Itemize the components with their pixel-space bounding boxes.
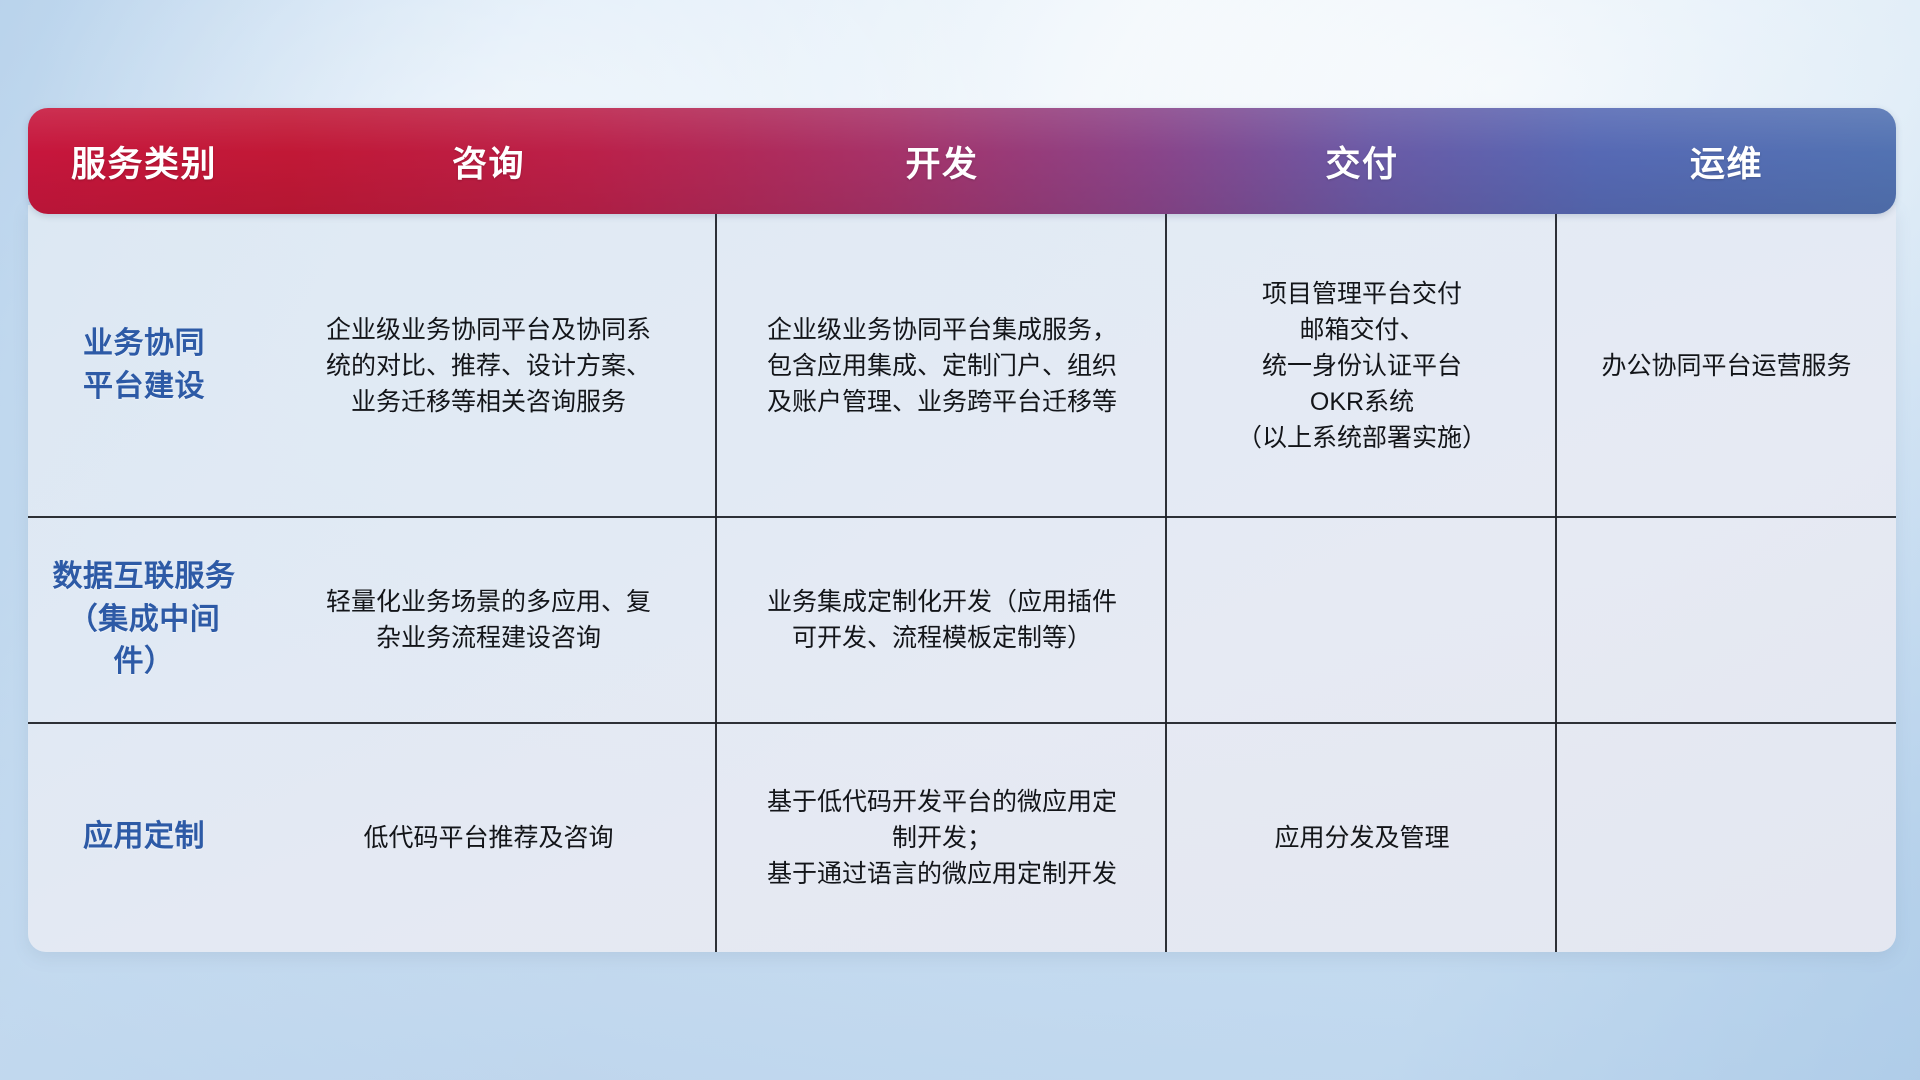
header-cell-development: 开发 xyxy=(717,136,1167,187)
column-divider xyxy=(715,214,717,952)
row-header-label: 业务协同 平台建设 xyxy=(28,214,260,517)
cell-delivery: 项目管理平台交付 邮箱交付、 统一身份认证平台 OKR系统 （以上系统部署实施） xyxy=(1167,214,1557,517)
table-row: 业务协同 平台建设 企业级业务协同平台及协同系 统的对比、推荐、设计方案、 业务… xyxy=(28,214,1896,517)
row-header-label: 数据互联服务 （集成中间件） xyxy=(28,517,260,723)
table-header-bar: 服务类别 咨询 开发 交付 运维 xyxy=(28,108,1896,214)
row-divider xyxy=(28,516,1896,518)
column-divider xyxy=(1555,214,1557,952)
header-cell-delivery: 交付 xyxy=(1167,136,1557,187)
column-divider xyxy=(1165,214,1167,952)
cell-consulting: 企业级业务协同平台及协同系 统的对比、推荐、设计方案、 业务迁移等相关咨询服务 xyxy=(260,214,717,517)
cell-delivery xyxy=(1167,517,1557,723)
service-matrix-table: 业务协同 平台建设 企业级业务协同平台及协同系 统的对比、推荐、设计方案、 业务… xyxy=(28,108,1896,952)
cell-delivery: 应用分发及管理 xyxy=(1167,723,1557,952)
cell-development: 企业级业务协同平台集成服务， 包含应用集成、定制门户、组织 及账户管理、业务跨平… xyxy=(717,214,1167,517)
row-header-label: 应用定制 xyxy=(28,723,260,952)
cell-consulting: 轻量化业务场景的多应用、复 杂业务流程建设咨询 xyxy=(260,517,717,723)
header-cell-operations: 运维 xyxy=(1557,136,1896,187)
table-body: 业务协同 平台建设 企业级业务协同平台及协同系 统的对比、推荐、设计方案、 业务… xyxy=(28,205,1896,952)
header-cell-category: 服务类别 xyxy=(28,136,260,187)
cell-consulting: 低代码平台推荐及咨询 xyxy=(260,723,717,952)
header-cell-consulting: 咨询 xyxy=(260,136,717,187)
cell-development: 基于低代码开发平台的微应用定 制开发； 基于通过语言的微应用定制开发 xyxy=(717,723,1167,952)
cell-operations: 办公协同平台运营服务 xyxy=(1557,214,1896,517)
table-row: 数据互联服务 （集成中间件） 轻量化业务场景的多应用、复 杂业务流程建设咨询 业… xyxy=(28,517,1896,723)
table-row: 应用定制 低代码平台推荐及咨询 基于低代码开发平台的微应用定 制开发； 基于通过… xyxy=(28,723,1896,952)
cell-operations xyxy=(1557,517,1896,723)
cell-development: 业务集成定制化开发（应用插件 可开发、流程模板定制等） xyxy=(717,517,1167,723)
cell-operations xyxy=(1557,723,1896,952)
row-divider xyxy=(28,722,1896,724)
